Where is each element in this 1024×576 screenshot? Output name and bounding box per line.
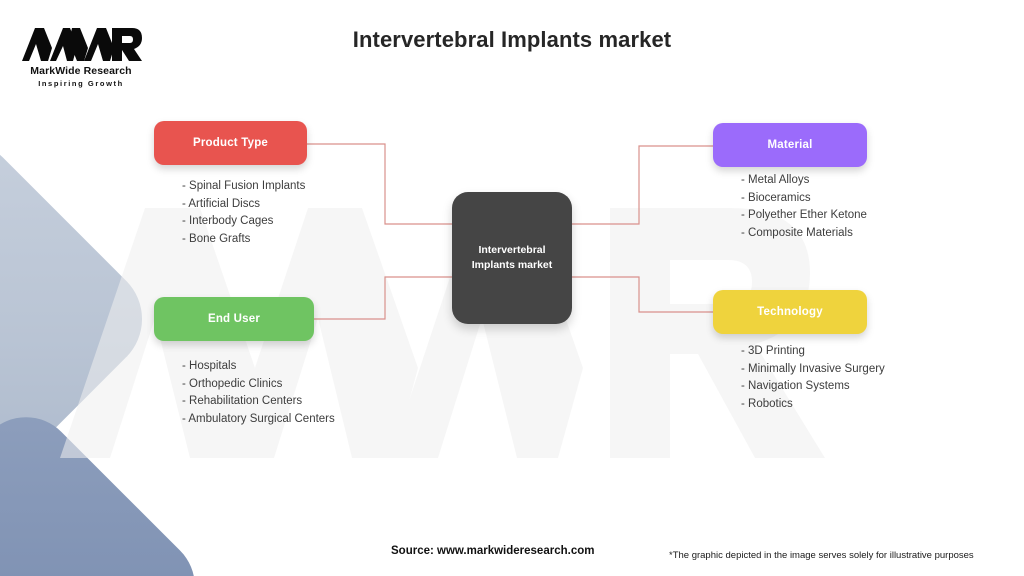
branch-label-technology: Technology (757, 306, 823, 318)
list-item: - Bone Grafts (182, 231, 305, 249)
branch-pill-product-type[interactable]: Product Type (154, 121, 307, 165)
list-item: - Interbody Cages (182, 213, 305, 231)
list-item: - Robotics (741, 396, 885, 414)
list-item: - Bioceramics (741, 190, 867, 208)
branch-items-product-type: - Spinal Fusion Implants - Artificial Di… (182, 178, 305, 248)
source-text: Source: www.markwideresearch.com (391, 545, 594, 557)
branch-label-material: Material (767, 139, 812, 151)
list-item: - Spinal Fusion Implants (182, 178, 305, 196)
branch-pill-technology[interactable]: Technology (713, 290, 867, 334)
branch-items-technology: - 3D Printing - Minimally Invasive Surge… (741, 343, 885, 413)
infographic-canvas: MarkWide Research Inspiring Growth Inter… (0, 0, 1024, 576)
center-node: Intervertebral Implants market (452, 192, 572, 324)
list-item: - Composite Materials (741, 225, 867, 243)
center-node-label-line2: Implants market (472, 259, 553, 271)
list-item: - 3D Printing (741, 343, 885, 361)
list-item: - Rehabilitation Centers (182, 393, 335, 411)
center-node-label-line1: Intervertebral (478, 244, 545, 256)
branch-label-end-user: End User (208, 313, 260, 325)
branch-items-material: - Metal Alloys - Bioceramics - Polyether… (741, 172, 867, 242)
list-item: - Minimally Invasive Surgery (741, 361, 885, 379)
list-item: - Metal Alloys (741, 172, 867, 190)
list-item: - Artificial Discs (182, 196, 305, 214)
branch-label-product-type: Product Type (193, 137, 268, 149)
list-item: - Orthopedic Clinics (182, 376, 335, 394)
center-node-label: Intervertebral Implants market (466, 243, 559, 273)
list-item: - Polyether Ether Ketone (741, 207, 867, 225)
branch-items-end-user: - Hospitals - Orthopedic Clinics - Rehab… (182, 358, 335, 428)
branch-pill-end-user[interactable]: End User (154, 297, 314, 341)
branch-pill-material[interactable]: Material (713, 123, 867, 167)
list-item: - Ambulatory Surgical Centers (182, 411, 335, 429)
disclaimer-text: *The graphic depicted in the image serve… (669, 550, 974, 561)
list-item: - Navigation Systems (741, 378, 885, 396)
list-item: - Hospitals (182, 358, 335, 376)
